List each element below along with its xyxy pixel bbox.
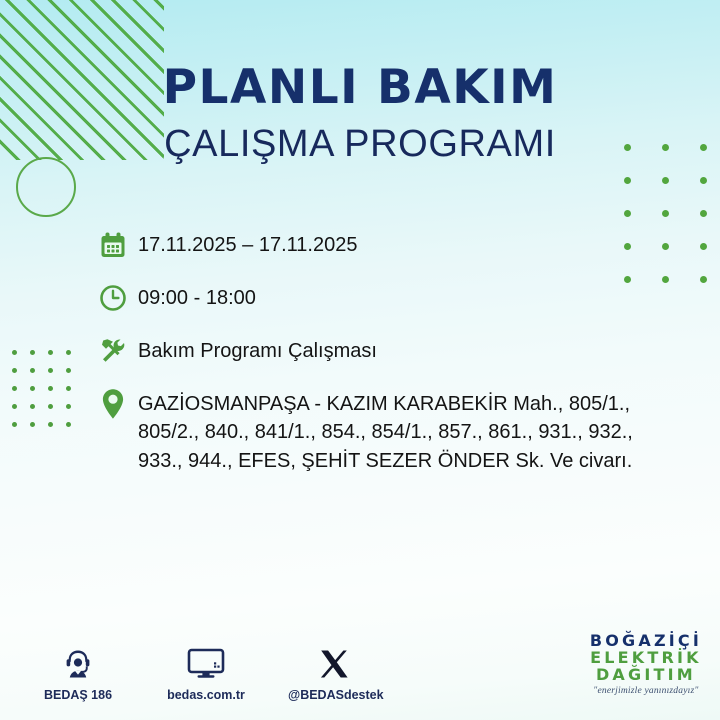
page-title: PLANLI BAKIM xyxy=(0,64,720,111)
headset-support-icon xyxy=(32,641,124,681)
detail-row-time: 09:00 - 18:00 xyxy=(98,281,678,315)
brand-line-elektrik: ELEKTRİK xyxy=(590,649,702,666)
monitor-icon xyxy=(160,641,252,681)
detail-list: 17.11.2025 – 17.11.2025 09:00 - 18:00 xyxy=(98,228,678,475)
detail-row-work-type: Bakım Programı Çalışması xyxy=(98,334,678,368)
footer-label-website: bedas.com.tr xyxy=(160,688,252,702)
date-range-text: 17.11.2025 – 17.11.2025 xyxy=(138,228,357,259)
brand-tagline: "enerjimizle yanınızdayız" xyxy=(590,686,702,696)
circle-outline-decoration xyxy=(16,157,76,217)
time-range-text: 09:00 - 18:00 xyxy=(138,281,256,312)
planned-maintenance-poster: PLANLI BAKIM ÇALIŞMA PROGRAMI xyxy=(0,0,720,720)
brand-line-dagitim: DAĞITIM xyxy=(590,666,702,683)
footer-item-website[interactable]: bedas.com.tr xyxy=(160,641,252,702)
detail-row-address: GAZİOSMANPAŞA - KAZIM KARABEKİR Mah., 80… xyxy=(98,387,678,475)
x-twitter-icon xyxy=(288,641,380,681)
footer-label-social: @BEDASdestek xyxy=(288,688,380,702)
poster-header: PLANLI BAKIM ÇALIŞMA PROGRAMI xyxy=(0,64,720,163)
location-pin-icon xyxy=(98,387,138,421)
footer-contact-strip: BEDAŞ 186 bedas.com.tr xyxy=(32,641,380,702)
work-type-text: Bakım Programı Çalışması xyxy=(138,334,377,365)
dot-grid-left-decoration xyxy=(12,350,71,427)
footer-item-social[interactable]: @BEDASdestek xyxy=(288,641,380,702)
footer-label-call-center: BEDAŞ 186 xyxy=(32,688,124,702)
calendar-icon xyxy=(98,228,138,262)
clock-icon xyxy=(98,281,138,315)
brand-line-bogazici: BOĞAZİÇİ xyxy=(590,632,702,649)
footer-item-call-center[interactable]: BEDAŞ 186 xyxy=(32,641,124,702)
tools-icon xyxy=(98,334,138,368)
detail-row-date: 17.11.2025 – 17.11.2025 xyxy=(98,228,678,262)
address-text: GAZİOSMANPAŞA - KAZIM KARABEKİR Mah., 80… xyxy=(138,387,678,475)
page-subtitle: ÇALIŞMA PROGRAMI xyxy=(0,125,720,163)
brand-logo: BOĞAZİÇİ ELEKTRİK DAĞITIM "enerjimizle y… xyxy=(590,632,702,696)
